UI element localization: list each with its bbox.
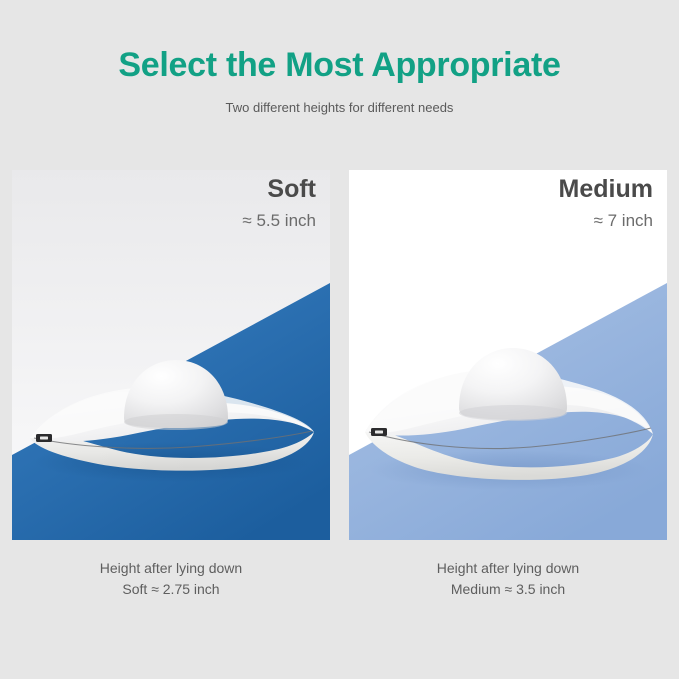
product-name-soft: Soft — [242, 174, 316, 204]
page-subtitle: Two different heights for different need… — [0, 86, 679, 117]
caption-medium-line2: Medium ≈ 3.5 inch — [349, 579, 667, 600]
caption-soft-line2: Soft ≈ 2.75 inch — [12, 579, 330, 600]
caption-medium-line1: Height after lying down — [349, 558, 667, 579]
caption-soft: Height after lying down Soft ≈ 2.75 inch — [12, 558, 330, 600]
product-height-medium: ≈ 7 inch — [559, 204, 653, 233]
product-panel-soft: Soft ≈ 5.5 inch — [12, 170, 330, 540]
caption-soft-line1: Height after lying down — [12, 558, 330, 579]
product-name-medium: Medium — [559, 174, 653, 204]
panel-label-medium: Medium ≈ 7 inch — [559, 174, 653, 233]
panel-label-soft: Soft ≈ 5.5 inch — [242, 174, 316, 233]
page-title: Select the Most Appropriate — [0, 44, 679, 86]
page-header: Select the Most Appropriate Two differen… — [0, 0, 679, 117]
caption-medium: Height after lying down Medium ≈ 3.5 inc… — [349, 558, 667, 600]
product-height-soft: ≈ 5.5 inch — [242, 204, 316, 233]
product-panel-medium: Medium ≈ 7 inch — [349, 170, 667, 540]
comparison-section: Soft ≈ 5.5 inch — [0, 170, 679, 620]
